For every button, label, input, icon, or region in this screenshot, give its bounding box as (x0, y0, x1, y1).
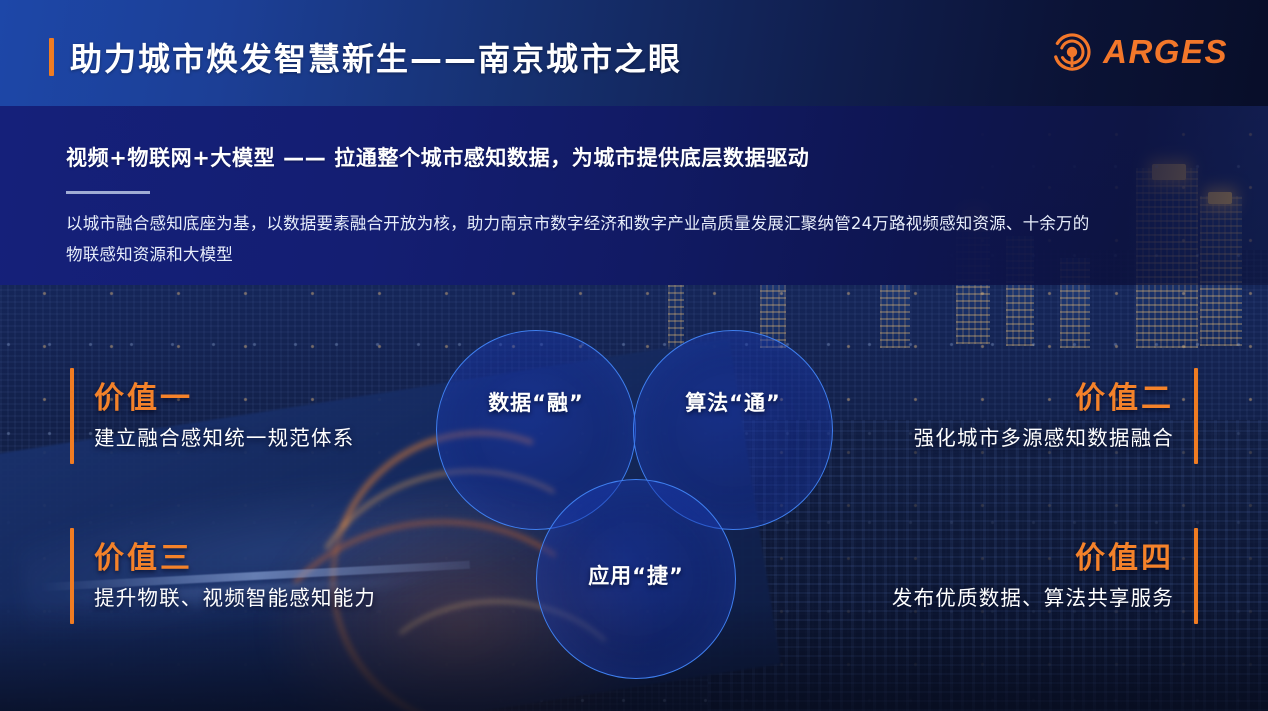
value-item-3: 价值三 提升物联、视频智能感知能力 (70, 528, 376, 624)
page-title: 助力城市焕发智慧新生——南京城市之眼 (49, 34, 682, 80)
slide-root: 助力城市焕发智慧新生——南京城市之眼 ARGES 视频+物联网+大模型 —— 拉… (0, 0, 1268, 711)
intro-headline: 视频+物联网+大模型 —— 拉通整个城市感知数据，为城市提供底层数据驱动 (66, 142, 809, 172)
value-item-3-text: 提升物联、视频智能感知能力 (94, 586, 376, 611)
value-accent-bar (70, 368, 74, 464)
intro-body-text: 以城市融合感知底座为基，以数据要素融合开放为核，助力南京市数字经济和数字产业高质… (66, 208, 1096, 270)
value-accent-bar (1194, 368, 1198, 464)
brand-name: ARGES (1103, 33, 1228, 71)
page-title-text: 助力城市焕发智慧新生——南京城市之眼 (70, 34, 682, 80)
value-accent-bar (1194, 528, 1198, 624)
intro-divider (66, 191, 150, 194)
target-eye-icon (1052, 32, 1092, 72)
value-item-2-text: 强化城市多源感知数据融合 (914, 426, 1174, 451)
value-item-4-heading: 价值四 (1075, 542, 1174, 576)
value-item-1: 价值一 建立融合感知统一规范体系 (70, 368, 354, 464)
slide-header: 助力城市焕发智慧新生——南京城市之眼 ARGES (0, 0, 1268, 106)
value-item-4: 价值四 发布优质数据、算法共享服务 (892, 528, 1198, 624)
value-accent-bar (70, 528, 74, 624)
value-item-2-heading: 价值二 (1075, 382, 1174, 416)
value-item-1-text: 建立融合感知统一规范体系 (94, 426, 354, 451)
brand-logo: ARGES (1052, 32, 1228, 72)
title-accent-bar (49, 38, 54, 76)
value-item-3-heading: 价值三 (94, 542, 193, 576)
intro-panel: 视频+物联网+大模型 —— 拉通整个城市感知数据，为城市提供底层数据驱动 以城市… (0, 106, 1268, 285)
value-item-4-text: 发布优质数据、算法共享服务 (892, 586, 1174, 611)
value-item-2: 价值二 强化城市多源感知数据融合 (914, 368, 1198, 464)
value-item-1-heading: 价值一 (94, 382, 193, 416)
